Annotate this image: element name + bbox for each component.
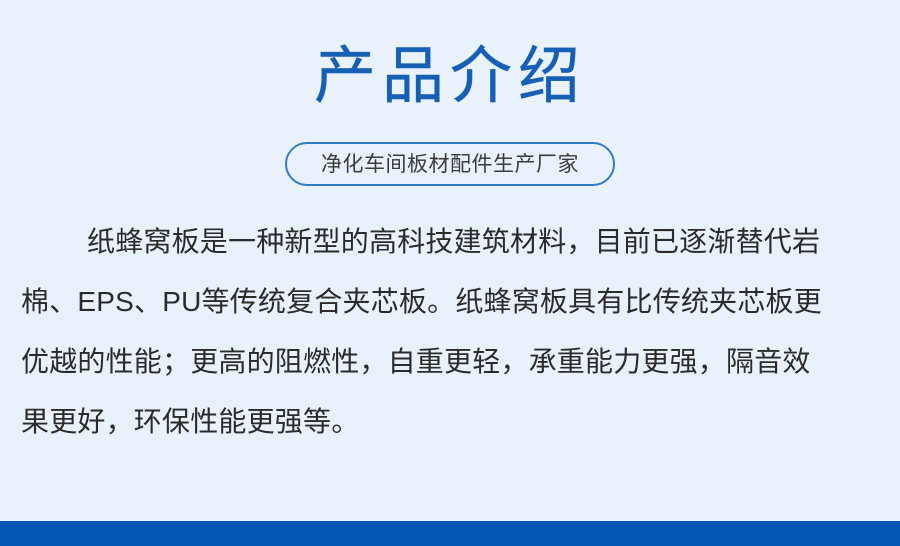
subtitle-label: 净化车间板材配件生产厂家 [321,154,579,175]
body-line: 优越的性能；更高的阻燃性，自重更轻，承重能力更强，隔音效 [21,332,881,392]
page-title-container: 产品介绍 [0,44,900,109]
subtitle-container: 净化车间板材配件生产厂家 [0,142,900,186]
body-line: 果更好，环保性能更强等。 [21,392,881,452]
body-line: 纸蜂窝板是一种新型的高科技建筑材料，目前已逐渐替代岩 [21,212,881,272]
page-title: 产品介绍 [314,44,586,109]
bottom-accent-bar [0,521,900,546]
body-paragraph: 纸蜂窝板是一种新型的高科技建筑材料，目前已逐渐替代岩 棉、EPS、PU等传统复合… [21,212,881,452]
subtitle-pill: 净化车间板材配件生产厂家 [285,142,615,186]
body-line: 棉、EPS、PU等传统复合夹芯板。纸蜂窝板具有比传统夹芯板更 [21,272,881,332]
product-introduction-page: 产品介绍 净化车间板材配件生产厂家 纸蜂窝板是一种新型的高科技建筑材料，目前已逐… [0,0,900,546]
